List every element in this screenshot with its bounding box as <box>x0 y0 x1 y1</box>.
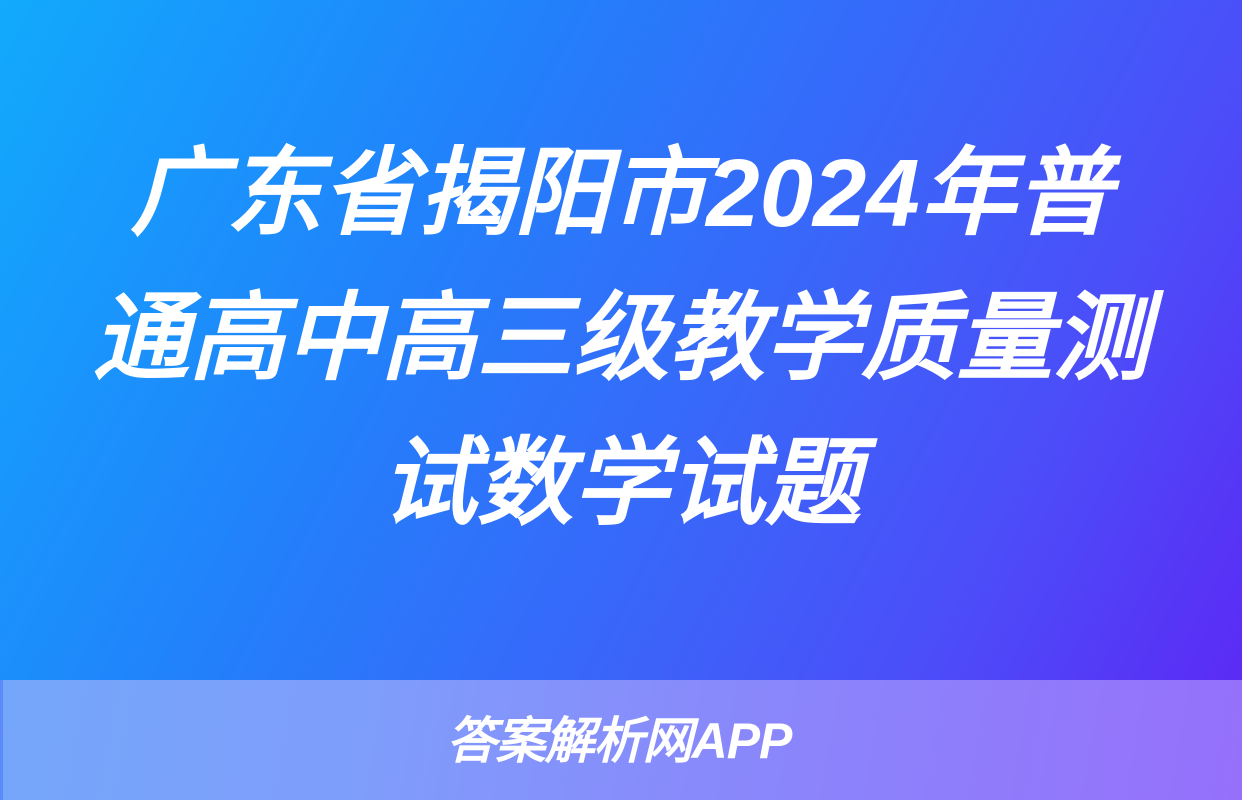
watermark-text: 答案解析网APP <box>447 714 792 768</box>
page-title: 广东省揭阳市2024年普通高中高三级教学质量测试数学试题 <box>91 121 1151 556</box>
poster-canvas: 广东省揭阳市2024年普通高中高三级教学质量测试数学试题 答案解析网APP <box>0 0 1242 800</box>
hero-gradient-panel: 广东省揭阳市2024年普通高中高三级教学质量测试数学试题 <box>0 0 1242 680</box>
footer-left-edge-accent <box>0 680 3 800</box>
footer-watermark-band: 答案解析网APP <box>0 680 1242 800</box>
